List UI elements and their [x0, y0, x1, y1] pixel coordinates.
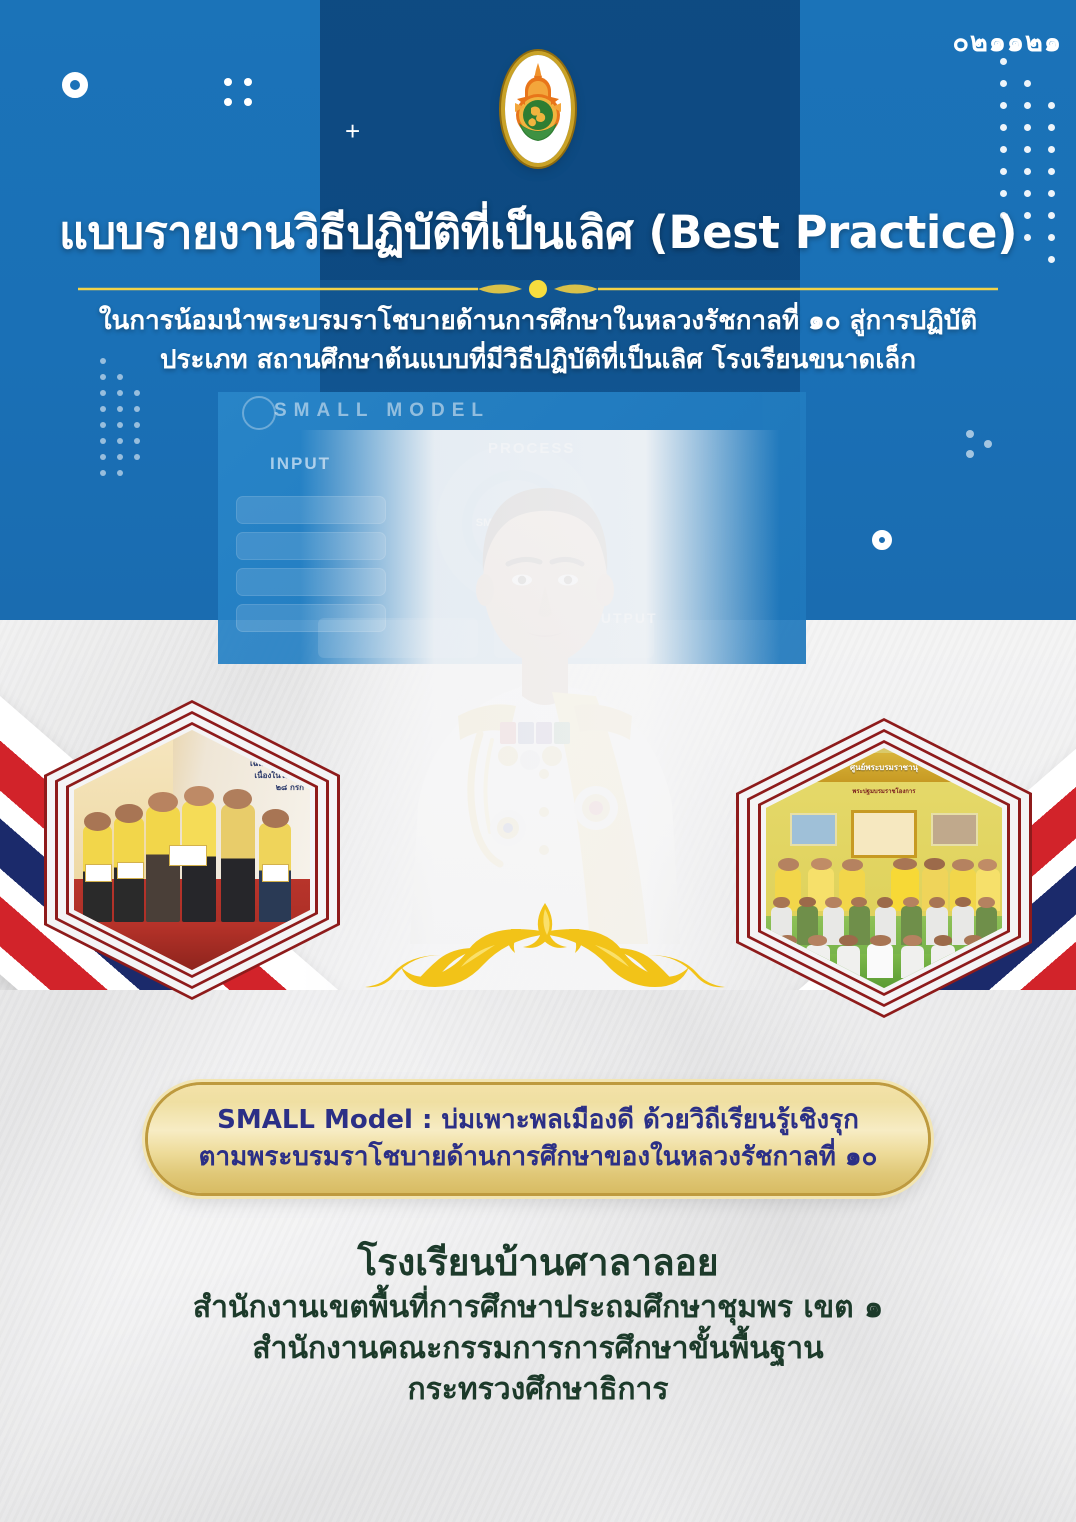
- diagram-input-box: [236, 532, 386, 560]
- diagram-label-input: INPUT: [270, 454, 331, 474]
- dot-cluster-decor: [224, 78, 260, 114]
- school-obec-office: สำนักงานคณะกรรมการการศึกษาขั้นพื้นฐาน: [0, 1329, 1076, 1370]
- gold-divider-ornament: [78, 277, 998, 301]
- subtitle-line-1: ในการน้อมนำพระบรมราโชบายด้านการศึกษาในหล…: [0, 302, 1076, 341]
- diagram-seal-icon: [242, 396, 276, 430]
- gold-flourish-ornament: [345, 885, 745, 995]
- king-rama-x-portrait: [400, 404, 690, 944]
- award-ceremony-photo: พิธีเปิดศูน เฉลิมพระเกียรต เนื่องในโอกาส…: [44, 700, 340, 1000]
- circle-ring-decor-right: [872, 530, 892, 550]
- thai-ministry-of-education-emblem-icon: [505, 55, 571, 163]
- subtitle-block: ในการน้อมนำพระบรมราโชบายด้านการศึกษาในหล…: [0, 302, 1076, 380]
- diagram-input-box: [236, 496, 386, 524]
- school-group-photo: ศูนย์พระบรมราชานุ พระปฐมบรมราชโองการ: [736, 718, 1032, 1018]
- subtitle-line-2: ประเภท สถานศึกษาต้นแบบที่มีวิธีปฏิบัติที…: [0, 341, 1076, 380]
- school-name: โรงเรียนบ้านศาลาลอย: [0, 1238, 1076, 1288]
- dot-cluster-decor-right: [966, 430, 1002, 466]
- banner-line-1: SMALL Model : บ่มเพาะพลเมืองดี ด้วยวิถีเ…: [217, 1102, 859, 1139]
- title-block: แบบรายงานวิธีปฏิบัติที่เป็นเลิศ (Best Pr…: [0, 196, 1076, 268]
- banner-line-2: ตามพระบรมราโชบายด้านการศึกษาของในหลวงรัช…: [199, 1139, 878, 1176]
- school-info-block: โรงเรียนบ้านศาลาลอย สำนักงานเขตพื้นที่กา…: [0, 1238, 1076, 1410]
- small-model-banner: SMALL Model : บ่มเพาะพลเมืองดี ด้วยวิถีเ…: [148, 1085, 928, 1193]
- school-area-office: สำนักงานเขตพื้นที่การศึกษาประถมศึกษาชุมพ…: [0, 1288, 1076, 1329]
- photo-caption-line: พระปฐมบรมราชโองการ: [804, 786, 964, 796]
- photo-caption-line: ศูนย์พระบรมราชานุ: [850, 761, 918, 774]
- document-number: ๐๒๑๑๒๑: [953, 20, 1063, 63]
- poster-page: +: [0, 0, 1076, 1522]
- school-ministry: กระทรวงศึกษาธิการ: [0, 1370, 1076, 1411]
- circle-ring-decor-top-left: [62, 72, 88, 98]
- diagram-input-box: [236, 568, 386, 596]
- plus-decor-icon: +: [345, 118, 360, 144]
- page-title: แบบรายงานวิธีปฏิบัติที่เป็นเลิศ (Best Pr…: [0, 196, 1076, 268]
